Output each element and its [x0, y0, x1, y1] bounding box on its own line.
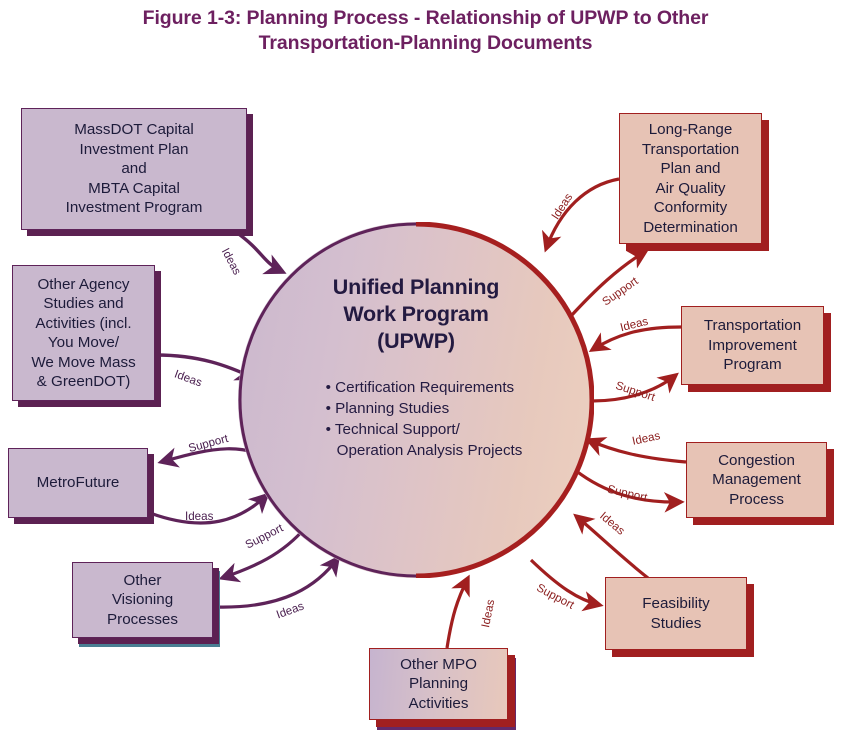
node-congestion-management-process[interactable]: CongestionManagementProcess [686, 442, 827, 518]
node-label: MassDOT CapitalInvestment PlanandMBTA Ca… [62, 120, 207, 218]
node-label: MetroFuture [33, 473, 124, 493]
node-other-mpo-planning-activities[interactable]: Other MPOPlanningActivities [369, 648, 508, 720]
edge-label-metrofuture-to-hub: Ideas [185, 510, 213, 523]
figure-canvas: Figure 1-3: Planning Process - Relations… [0, 0, 851, 731]
node-other-visioning-processes[interactable]: OtherVisioningProcesses [72, 562, 213, 638]
upwp-hub-content: Unified Planning Work Program (UPWP) • C… [238, 222, 594, 578]
upwp-bullet-1: • Certification Requirements [326, 377, 523, 398]
node-label: FeasibilityStudies [638, 594, 714, 633]
node-massdot-capital-investment-plan[interactable]: MassDOT CapitalInvestment PlanandMBTA Ca… [21, 108, 247, 230]
node-label: Other AgencyStudies andActivities (incl.… [27, 275, 139, 392]
node-label: Other MPOPlanningActivities [396, 655, 481, 714]
node-label: CongestionManagementProcess [708, 451, 805, 510]
node-label: Long-RangeTransportationPlan andAir Qual… [638, 120, 743, 237]
node-label: TransportationImprovementProgram [700, 316, 805, 375]
upwp-bullet-3-continued: Operation Analysis Projects [326, 440, 523, 461]
node-other-agency-studies[interactable]: Other AgencyStudies andActivities (incl.… [12, 265, 155, 401]
upwp-hub-title: Unified Planning Work Program (UPWP) [333, 274, 499, 355]
node-feasibility-studies[interactable]: FeasibilityStudies [605, 577, 747, 650]
upwp-title-line-1: Unified Planning [333, 274, 499, 301]
node-transportation-improvement-program[interactable]: TransportationImprovementProgram [681, 306, 824, 385]
upwp-bullet-2: • Planning Studies [326, 398, 523, 419]
upwp-title-line-3: (UPWP) [333, 328, 499, 355]
node-metrofuture[interactable]: MetroFuture [8, 448, 148, 518]
node-long-range-transportation-plan[interactable]: Long-RangeTransportationPlan andAir Qual… [619, 113, 762, 244]
upwp-bullet-list: • Certification Requirements • Planning … [310, 377, 523, 461]
edge-mpo-to-hub [447, 578, 468, 648]
upwp-bullet-3: • Technical Support/ [326, 419, 523, 440]
upwp-title-line-2: Work Program [333, 301, 499, 328]
node-label: OtherVisioningProcesses [103, 571, 182, 630]
